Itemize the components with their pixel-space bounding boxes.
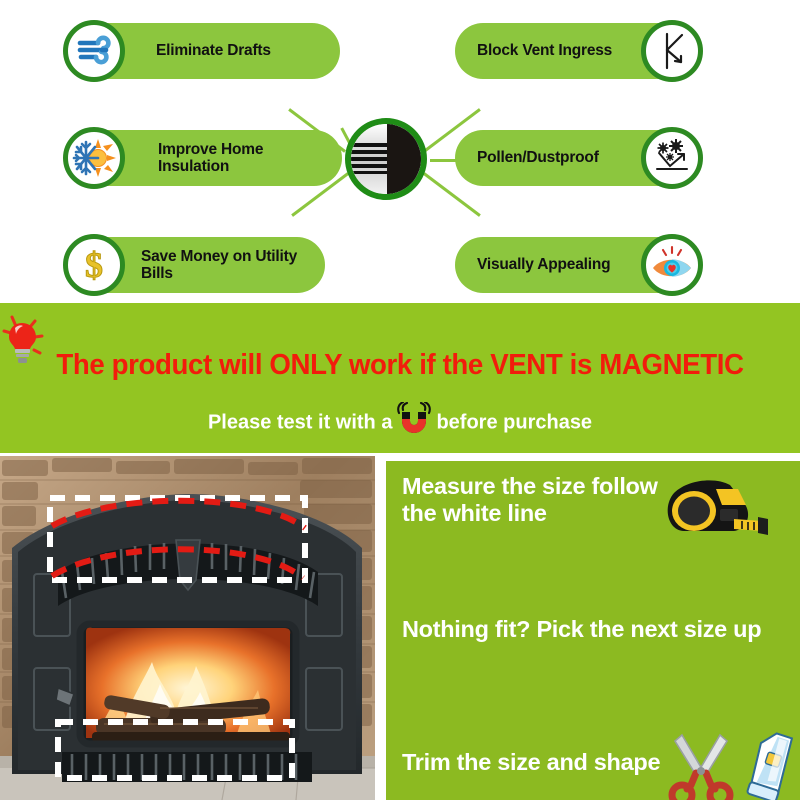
banner-line2-after: before purchase (436, 412, 592, 434)
benefit-label: Eliminate Drafts (146, 42, 326, 59)
snowflake-sun-icon (63, 127, 125, 189)
benefits-diagram: Eliminate Drafts Improve Home Insulation (0, 0, 800, 302)
deflect-arrow-icon (641, 20, 703, 82)
instruction-step-size-up: Nothing fit? Pick the next size up (402, 616, 792, 643)
horseshoe-magnet-icon (394, 402, 434, 442)
tape-measure-icon (658, 475, 768, 550)
banner-instruction-line: Please test it with a before purchase (0, 403, 800, 443)
benefit-label: Pollen/Dustproof (477, 149, 599, 166)
fireplace-photo (0, 456, 375, 800)
dollar-icon: $ (63, 234, 125, 296)
instruction-step-measure: Measure the size follow the white line (402, 473, 662, 527)
magnetic-warning-banner: The product will ONLY work if the VENT i… (0, 303, 800, 453)
product-infographic: Eliminate Drafts Improve Home Insulation (0, 0, 800, 800)
instructions-panel: Measure the size follow the white line (381, 456, 800, 800)
magnetic-vent-cover-hub (345, 118, 427, 200)
bottom-section: Measure the size follow the white line (0, 453, 800, 800)
benefit-label: Save Money on Utility Bills (131, 248, 311, 283)
benefit-label: Visually Appealing (477, 256, 610, 273)
svg-text:$: $ (85, 245, 103, 285)
scissors-and-cutter-icon (658, 729, 798, 800)
eye-heart-icon (641, 234, 703, 296)
wind-icon (63, 20, 125, 82)
banner-warning-line: The product will ONLY work if the VENT i… (12, 349, 788, 382)
benefit-label: Block Vent Ingress (477, 42, 612, 59)
benefit-label: Improve Home Insulation (148, 141, 328, 176)
pollen-deflect-icon (641, 127, 703, 189)
banner-line2-before: Please test it with a (208, 412, 393, 434)
instruction-step-trim: Trim the size and shape (402, 749, 682, 776)
